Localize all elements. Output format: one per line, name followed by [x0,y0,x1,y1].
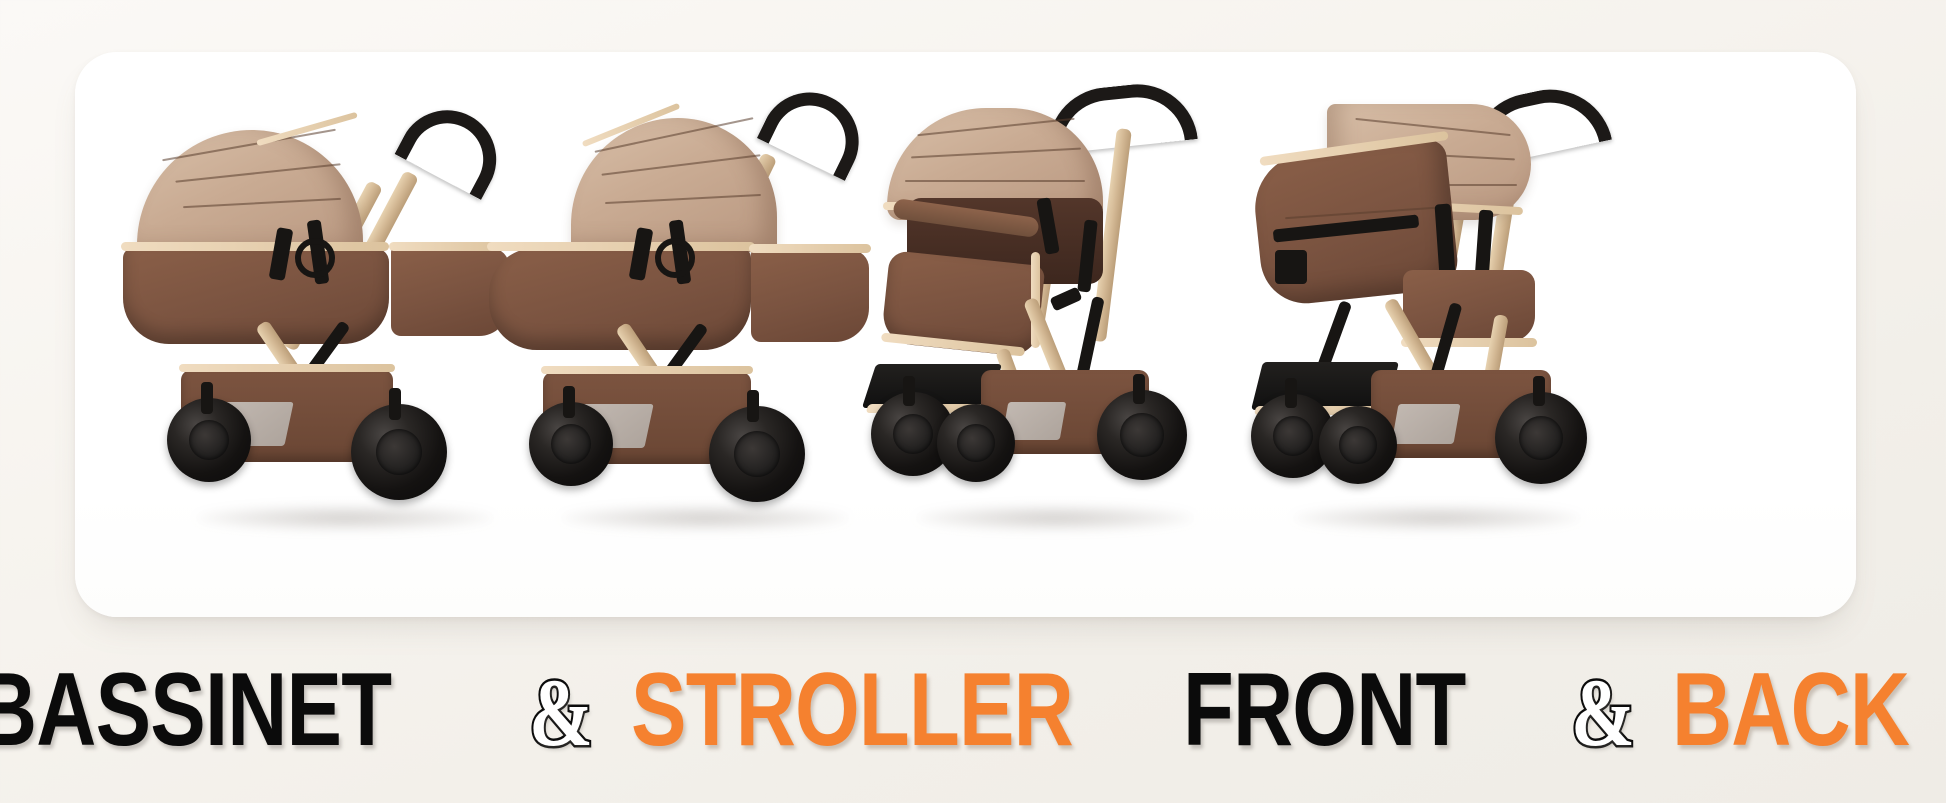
caption-word-stroller: STROLLER [631,658,1073,762]
caption-group-bassinet-stroller: BASSINET & STROLLER [0,658,1183,762]
product-gallery-panel [75,52,1856,617]
caption-word-front: FRONT [1183,658,1466,762]
product-image-stroller-front-facing[interactable] [845,52,1245,617]
product-image-bassinet-side-left[interactable] [105,52,525,617]
caption-ampersand-right: & [1571,665,1635,761]
caption-word-bassinet: BASSINET [0,658,391,762]
product-image-stroller-rear-facing[interactable] [1215,52,1635,617]
product-image-bassinet-side-right[interactable] [475,52,895,617]
product-gallery-panel-inner [75,52,1856,617]
caption-group-front-back: FRONT & BACK [1183,658,1946,762]
stage: BASSINET & STROLLER FRONT & BACK [0,0,1946,803]
caption-ampersand-left: & [529,665,593,761]
caption-row: BASSINET & STROLLER FRONT & BACK [0,640,1946,780]
caption-word-back: BACK [1672,658,1909,762]
